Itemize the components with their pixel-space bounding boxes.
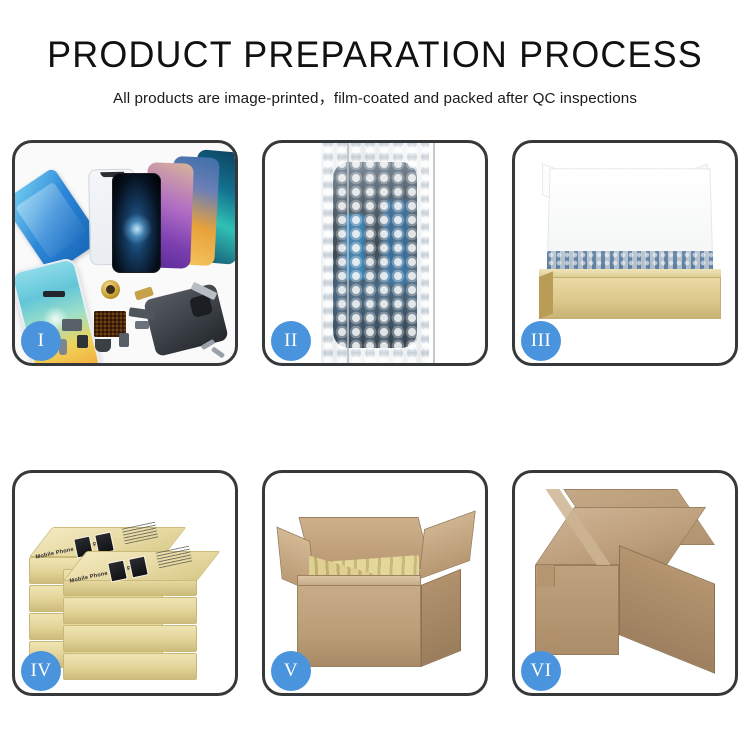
- kraft-tray-icon: [539, 277, 721, 319]
- page-subtitle: All products are image-printed，film-coat…: [0, 86, 750, 108]
- spare-part-icon: [62, 319, 82, 331]
- spare-part-icon: [135, 321, 149, 329]
- process-step-1: I: [0, 134, 250, 370]
- step-image-panel: Mobile Phone Spare Parts Mobile Phone Sp…: [12, 470, 238, 696]
- page-title: PRODUCT PREPARATION PROCESS: [11, 36, 739, 75]
- step-image-panel: VI: [512, 470, 738, 696]
- spare-part-icon: [95, 339, 111, 352]
- kraft-box-icon: [63, 625, 197, 652]
- kraft-box-icon: [63, 653, 197, 680]
- speaker-coil-icon: [101, 280, 120, 299]
- box-stack: Mobile Phone Spare Parts Mobile Phone Sp…: [29, 499, 229, 681]
- wrap-seam-icon: [433, 143, 435, 363]
- kraft-tray-side-icon: [539, 271, 553, 319]
- screw-icon: [211, 346, 225, 358]
- step-image-panel: II: [262, 140, 488, 366]
- step-number-badge: I: [21, 321, 61, 361]
- carton-side-panel-icon: [619, 545, 715, 674]
- kraft-box-icon: [63, 597, 197, 624]
- page-header: PRODUCT PREPARATION PROCESS All products…: [0, 0, 750, 108]
- wrap-seam-icon: [347, 143, 349, 363]
- step-number-badge: IV: [21, 651, 61, 691]
- spare-part-icon: [77, 335, 88, 348]
- carton-right-flap-icon: [418, 510, 475, 579]
- process-step-4: Mobile Phone Spare Parts Mobile Phone Sp…: [0, 464, 250, 700]
- step-image-panel: I: [12, 140, 238, 366]
- process-step-grid: I II: [0, 134, 750, 700]
- spare-part-icon: [119, 333, 129, 347]
- step-number-badge: III: [521, 321, 561, 361]
- carton-side-panel-icon: [421, 569, 461, 667]
- spare-part-icon: [43, 291, 65, 297]
- step-number-badge: II: [271, 321, 311, 361]
- process-step-2: II: [250, 134, 500, 370]
- process-step-6: VI: [500, 464, 750, 700]
- step-image-panel: III: [512, 140, 738, 366]
- process-step-3: III: [500, 134, 750, 370]
- step-image-panel: V: [262, 470, 488, 696]
- box-tray-lip-icon: [539, 269, 721, 277]
- process-step-5: V: [250, 464, 500, 700]
- carton-corner-tab-icon: [543, 629, 559, 643]
- bubble-highlight-layer-icon: [321, 143, 429, 363]
- carton-front-panel-icon: [297, 585, 421, 667]
- step-number-badge: V: [271, 651, 311, 691]
- carton-corner-tab-icon: [537, 565, 555, 587]
- phone-screen-black-icon: [112, 173, 161, 273]
- step-number-badge: VI: [521, 651, 561, 691]
